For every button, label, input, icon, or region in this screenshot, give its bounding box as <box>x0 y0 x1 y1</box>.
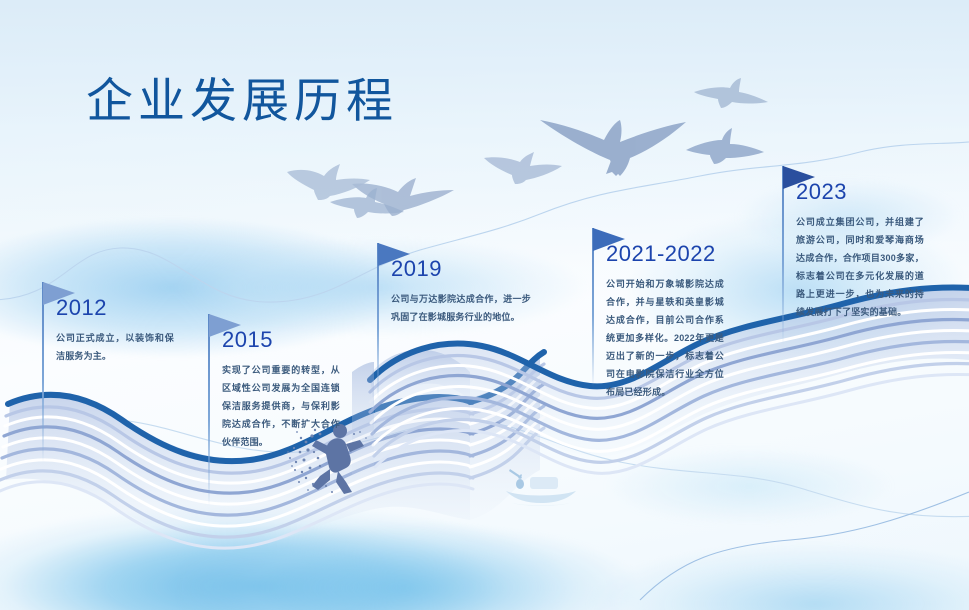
bird-far-right-icon <box>694 78 768 108</box>
ink-wash-mist-middle-right <box>569 420 929 540</box>
milestone-year: 2021-2022 <box>606 241 716 267</box>
bird-far-left-icon <box>330 188 404 218</box>
milestone-description: 公司与万达影院达成合作，进一步巩固了在影城服务行业的地位。 <box>391 290 531 326</box>
milestone-year: 2023 <box>796 179 847 205</box>
ink-wash-mountain-bottom-center <box>180 480 740 610</box>
ink-wash-mountain-top-left-secondary <box>120 205 640 355</box>
bird-small-center-icon <box>484 152 562 184</box>
milestone-description: 公司正式成立，以装饰和保洁服务为主。 <box>56 329 174 365</box>
timeline-poster: 企业发展历程 2012 公司正式成立，以装饰和保洁服务为主。 2015 实现了公… <box>0 0 969 610</box>
bird-small-right-icon <box>686 128 764 164</box>
bird-small-left-icon <box>287 164 370 200</box>
milestone-description: 实现了公司重要的转型，从区域性公司发展为全国连锁保洁服务提供商，与保利影院达成合… <box>222 361 340 451</box>
fisherman-boat-icon <box>500 465 582 507</box>
flag-pole <box>208 314 210 506</box>
milestone-year: 2012 <box>56 295 107 321</box>
ink-wash-mountain-bottom-right <box>529 500 969 610</box>
milestone-description: 公司成立集团公司，并组建了旅游公司，同时和爱琴海商场达成合作，合作项目300多家… <box>796 213 924 321</box>
page-title: 企业发展历程 <box>86 62 398 131</box>
milestone-description: 公司开始和万象城影院达成合作，并与星轶和英皇影城达成合作，目前公司合作系统更加多… <box>606 275 724 401</box>
flag-pole <box>782 166 784 344</box>
milestone-year: 2019 <box>391 256 442 282</box>
bird-medium-icon <box>352 178 454 216</box>
milestone-year: 2015 <box>222 327 273 353</box>
flag-pole <box>42 282 44 462</box>
bird-large-icon <box>540 120 686 176</box>
